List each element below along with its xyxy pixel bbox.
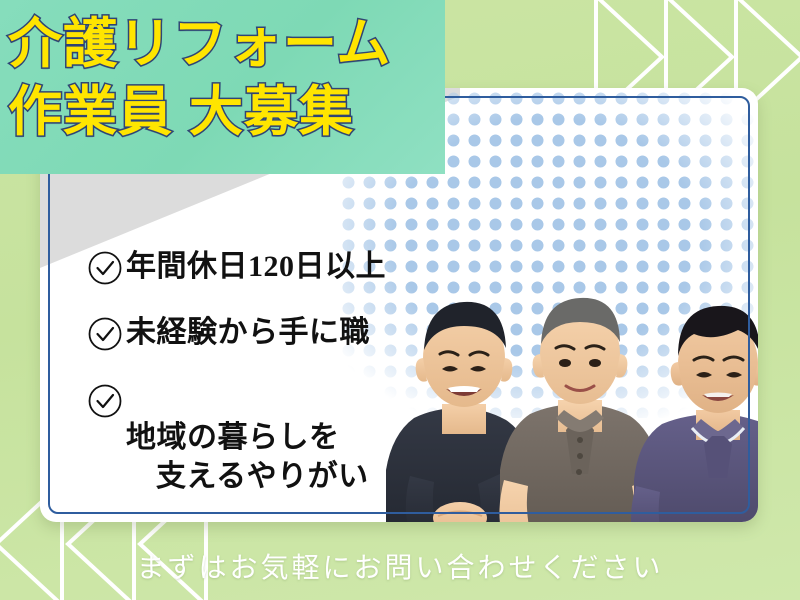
poster-root: 年間休日120日以上 未経験から手に職 地域の暮らしを 支えるやりがい [0,0,800,600]
list-item-label-line1: 地域の暮らしを [126,421,340,454]
check-circle-icon [88,384,122,418]
staff-right [631,306,758,522]
check-circle-icon [88,251,122,285]
staff-photo [380,218,758,522]
benefits-list: 年間休日120日以上 未経験から手に職 地域の暮らしを 支えるやりがい [88,248,386,522]
list-item-label-multiline: 地域の暮らしを 支えるやりがい [126,381,369,522]
list-item-label: 未経験から手に職 [126,314,370,352]
list-item-label-line2: 支えるやりがい [126,458,369,496]
list-item-label: 年間休日120日以上 [126,248,386,286]
headline-line-1: 介護リフォーム [8,14,391,74]
list-item: 未経験から手に職 [88,314,386,352]
page-title: 介護リフォーム 作業員 大募集 [8,10,445,146]
contact-tagline: まずはお気軽にお問い合わせください [0,546,800,586]
list-item: 地域の暮らしを 支えるやりがい [88,381,386,522]
list-item: 年間休日120日以上 [88,248,386,286]
headline-banner: 介護リフォーム 作業員 大募集 [0,0,445,174]
headline-line-2: 作業員 大募集 [8,78,445,146]
check-circle-icon [88,317,122,351]
